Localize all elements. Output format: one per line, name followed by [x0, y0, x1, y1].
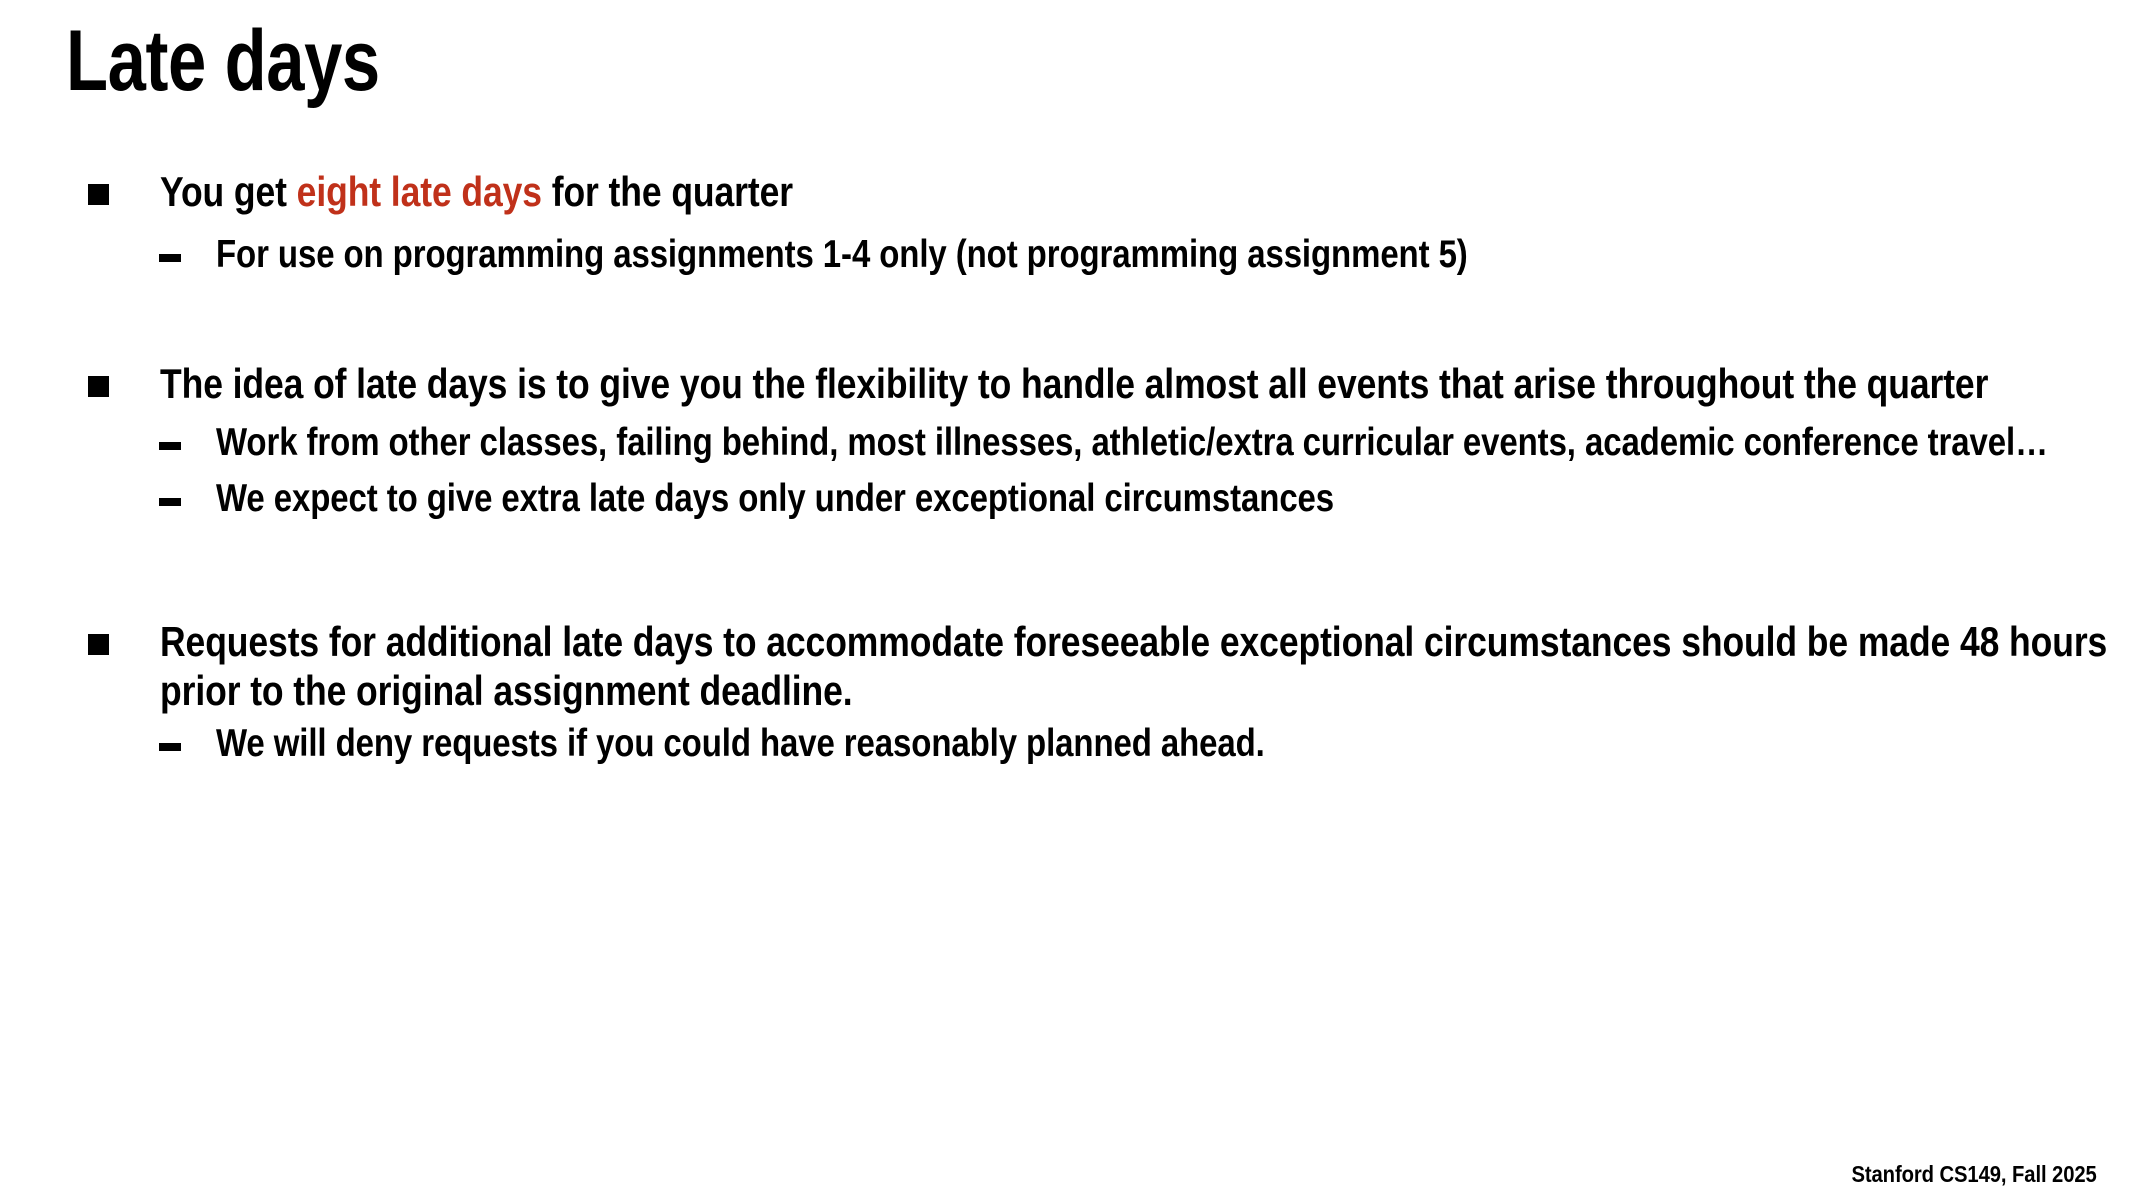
bullet1-text-before-accent: You get — [160, 168, 297, 215]
bullet1-accent-text: eight late days — [297, 168, 542, 215]
bullet-level1-text: You get eight late days for the quarter — [160, 168, 2132, 217]
bullet-level1-item: You get eight late days for the quarter — [0, 168, 2133, 222]
bullet-level1-text: The idea of late days is to give you the… — [160, 360, 2132, 409]
dash-bullet-icon — [159, 442, 181, 450]
slide-body: You get eight late days for the quarter … — [0, 168, 2133, 771]
bullet-level1-item: Requests for additional late days to acc… — [0, 618, 2133, 715]
spacer — [0, 282, 2133, 360]
bullet-group-3: Requests for additional late days to acc… — [0, 618, 2133, 771]
bullet-level2-item: For use on programming assignments 1-4 o… — [0, 232, 2133, 282]
bullet-level1-text: Requests for additional late days to acc… — [160, 618, 2132, 715]
bullet-level2-text: Work from other classes, failing behind,… — [216, 420, 2132, 467]
slide-canvas: Late days You get eight late days for th… — [0, 0, 2133, 1200]
dash-bullet-icon — [159, 743, 181, 751]
dash-bullet-icon — [159, 254, 181, 262]
bullet-group-2: The idea of late days is to give you the… — [0, 360, 2133, 526]
bullet-level2-item: Work from other classes, failing behind,… — [0, 420, 2133, 470]
bullet-level2-item: We expect to give extra late days only u… — [0, 476, 2133, 526]
bullet-level2-text: We will deny requests if you could have … — [216, 721, 2132, 768]
bullet-group-1: You get eight late days for the quarter … — [0, 168, 2133, 282]
dash-bullet-icon — [159, 498, 181, 506]
bullet-level1-item: The idea of late days is to give you the… — [0, 360, 2133, 414]
square-bullet-icon — [88, 184, 109, 205]
slide-footer: Stanford CS149, Fall 2025 — [1852, 1163, 2097, 1186]
page-title: Late days — [66, 18, 380, 104]
spacer — [0, 222, 2133, 232]
bullet-level2-text: We expect to give extra late days only u… — [216, 476, 2132, 523]
bullet-level2-item: We will deny requests if you could have … — [0, 721, 2133, 771]
square-bullet-icon — [88, 376, 109, 397]
spacer — [0, 526, 2133, 618]
bullet-level2-text: For use on programming assignments 1-4 o… — [216, 232, 2132, 279]
bullet1-text-after-accent: for the quarter — [542, 168, 793, 215]
square-bullet-icon — [88, 634, 109, 655]
